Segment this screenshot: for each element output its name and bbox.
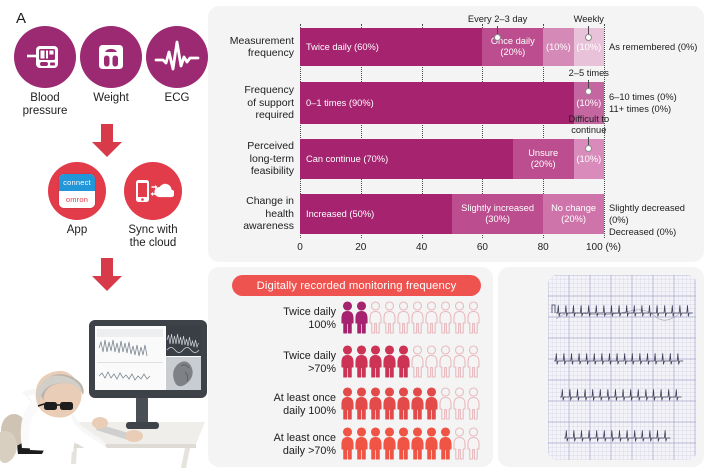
person-icon-group (341, 387, 480, 421)
person-icon (369, 301, 382, 335)
person-icon (397, 301, 410, 335)
category-label: Perceived long-term feasibility (208, 140, 294, 178)
person-icon (341, 345, 354, 379)
cloud-sync-icon-circle (124, 162, 182, 220)
blood-pressure-icon-circle (14, 26, 76, 88)
panel-a-workflow: A Blood pressure (0, 0, 210, 472)
person-icon (439, 427, 452, 461)
person-icon (425, 301, 438, 335)
panel-c-pictogram: Digitally recorded monitoring frequency … (208, 267, 493, 467)
callout-label: Difficult to continue (544, 114, 634, 136)
person-icon (425, 387, 438, 421)
person-icon (355, 387, 368, 421)
omron-connect-bottom-label: omron (59, 191, 95, 208)
ecg-icon-circle (146, 26, 208, 88)
person-icon-group (341, 301, 480, 335)
person-icon (453, 387, 466, 421)
pictogram-row: Twice daily 100% (208, 301, 493, 341)
ecg-strip (548, 275, 696, 460)
figure-root: A Blood pressure (0, 0, 708, 472)
person-icon (453, 301, 466, 335)
person-icon (411, 387, 424, 421)
outside-category-label: As remembered (0%) (609, 41, 707, 53)
pictogram-row: Twice daily >70% (208, 345, 493, 385)
category-label: Change in health awareness (208, 195, 294, 233)
person-icon (341, 301, 354, 335)
blood-pressure-monitor-icon (25, 37, 65, 77)
person-icon (467, 427, 480, 461)
person-icon (439, 301, 452, 335)
weight-label: Weight (80, 92, 142, 105)
bar-segment[interactable]: Increased (50%) (300, 194, 452, 234)
person-icon (411, 301, 424, 335)
bar-segment[interactable]: Can continue (70%) (300, 139, 513, 179)
x-tick-label: 0 (274, 242, 326, 253)
phone-cloud-sync-icon (132, 175, 174, 207)
panel-a-letter: A (16, 10, 26, 27)
bar-segment[interactable]: No change (20%) (543, 194, 604, 234)
person-icon (467, 301, 480, 335)
bar-segment[interactable]: 0–1 times (90%) (300, 82, 574, 124)
person-icon (341, 387, 354, 421)
category-label: Frequency of support required (208, 84, 294, 122)
person-icon-group (341, 427, 480, 461)
app-icon-circle: connect omron (48, 162, 106, 220)
stacked-bar-chart: 020406080100 (%)Measurement frequencyTwi… (208, 6, 704, 262)
person-icon (453, 345, 466, 379)
pictogram-row: At least once daily 100% (208, 387, 493, 427)
x-tick-label: 40 (396, 242, 448, 253)
blood-pressure-label: Blood pressure (6, 92, 84, 118)
pictogram-row-label: At least once daily 100% (208, 392, 336, 418)
person-icon (383, 387, 396, 421)
omron-connect-badge: connect omron (59, 174, 95, 208)
cloud-sync-label: Sync with the cloud (112, 224, 194, 250)
clinician-at-monitor-illustration (0, 292, 212, 472)
person-icon (467, 387, 480, 421)
bar-segment[interactable]: (10%) (543, 28, 573, 66)
app-label: App (48, 224, 106, 237)
person-icon (355, 301, 368, 335)
callout-label: Weekly (544, 14, 634, 25)
ecg-label: ECG (146, 92, 208, 105)
omron-connect-top-label: connect (59, 174, 95, 191)
pictogram-row-label: At least once daily >70% (208, 432, 336, 458)
person-icon (425, 345, 438, 379)
person-icon (439, 345, 452, 379)
person-icon (397, 427, 410, 461)
bar-segment[interactable]: Slightly increased (30%) (452, 194, 543, 234)
pictogram-row: At least once daily >70% (208, 427, 493, 467)
bar-segment[interactable]: Unsure (20%) (513, 139, 574, 179)
person-icon (355, 427, 368, 461)
person-icon (467, 345, 480, 379)
person-icon (411, 427, 424, 461)
callout-label: 2–5 times (544, 68, 634, 79)
person-icon (341, 427, 354, 461)
outside-category-label: Slightly decreased (0%) Decreased (0%) (609, 202, 707, 238)
person-icon (439, 387, 452, 421)
x-tick-label: 100 (%) (586, 242, 638, 253)
weight-scale-icon (92, 38, 130, 76)
person-icon (383, 427, 396, 461)
x-tick-label: 20 (335, 242, 387, 253)
person-icon (383, 345, 396, 379)
person-icon (411, 345, 424, 379)
outside-category-label: 6–10 times (0%) 11+ times (0%) (609, 91, 707, 115)
panel-c-title-badge: Digitally recorded monitoring frequency (232, 275, 481, 296)
person-icon (383, 301, 396, 335)
person-icon (369, 387, 382, 421)
weight-icon-circle (80, 26, 142, 88)
x-tick-label: 60 (456, 242, 508, 253)
panel-b-survey-chart: 020406080100 (%)Measurement frequencyTwi… (208, 6, 704, 262)
x-tick-label: 80 (517, 242, 569, 253)
person-icon (397, 387, 410, 421)
callout-label: Every 2–3 day (453, 14, 543, 25)
person-icon (425, 427, 438, 461)
ecg-waveform-icon (154, 39, 200, 75)
category-label: Measurement frequency (208, 35, 294, 60)
pictogram-row-label: Twice daily 100% (208, 306, 336, 332)
person-icon (369, 427, 382, 461)
arrow-down-1 (90, 124, 124, 163)
person-icon (355, 345, 368, 379)
person-icon (453, 427, 466, 461)
panel-d-ecg (498, 267, 704, 467)
pictogram-row-label: Twice daily >70% (208, 350, 336, 376)
bar-segment[interactable]: Twice daily (60%) (300, 28, 482, 66)
person-icon (369, 345, 382, 379)
person-icon-group (341, 345, 480, 379)
bar-segment[interactable]: Once daily (20%) (482, 28, 543, 66)
person-icon (397, 345, 410, 379)
